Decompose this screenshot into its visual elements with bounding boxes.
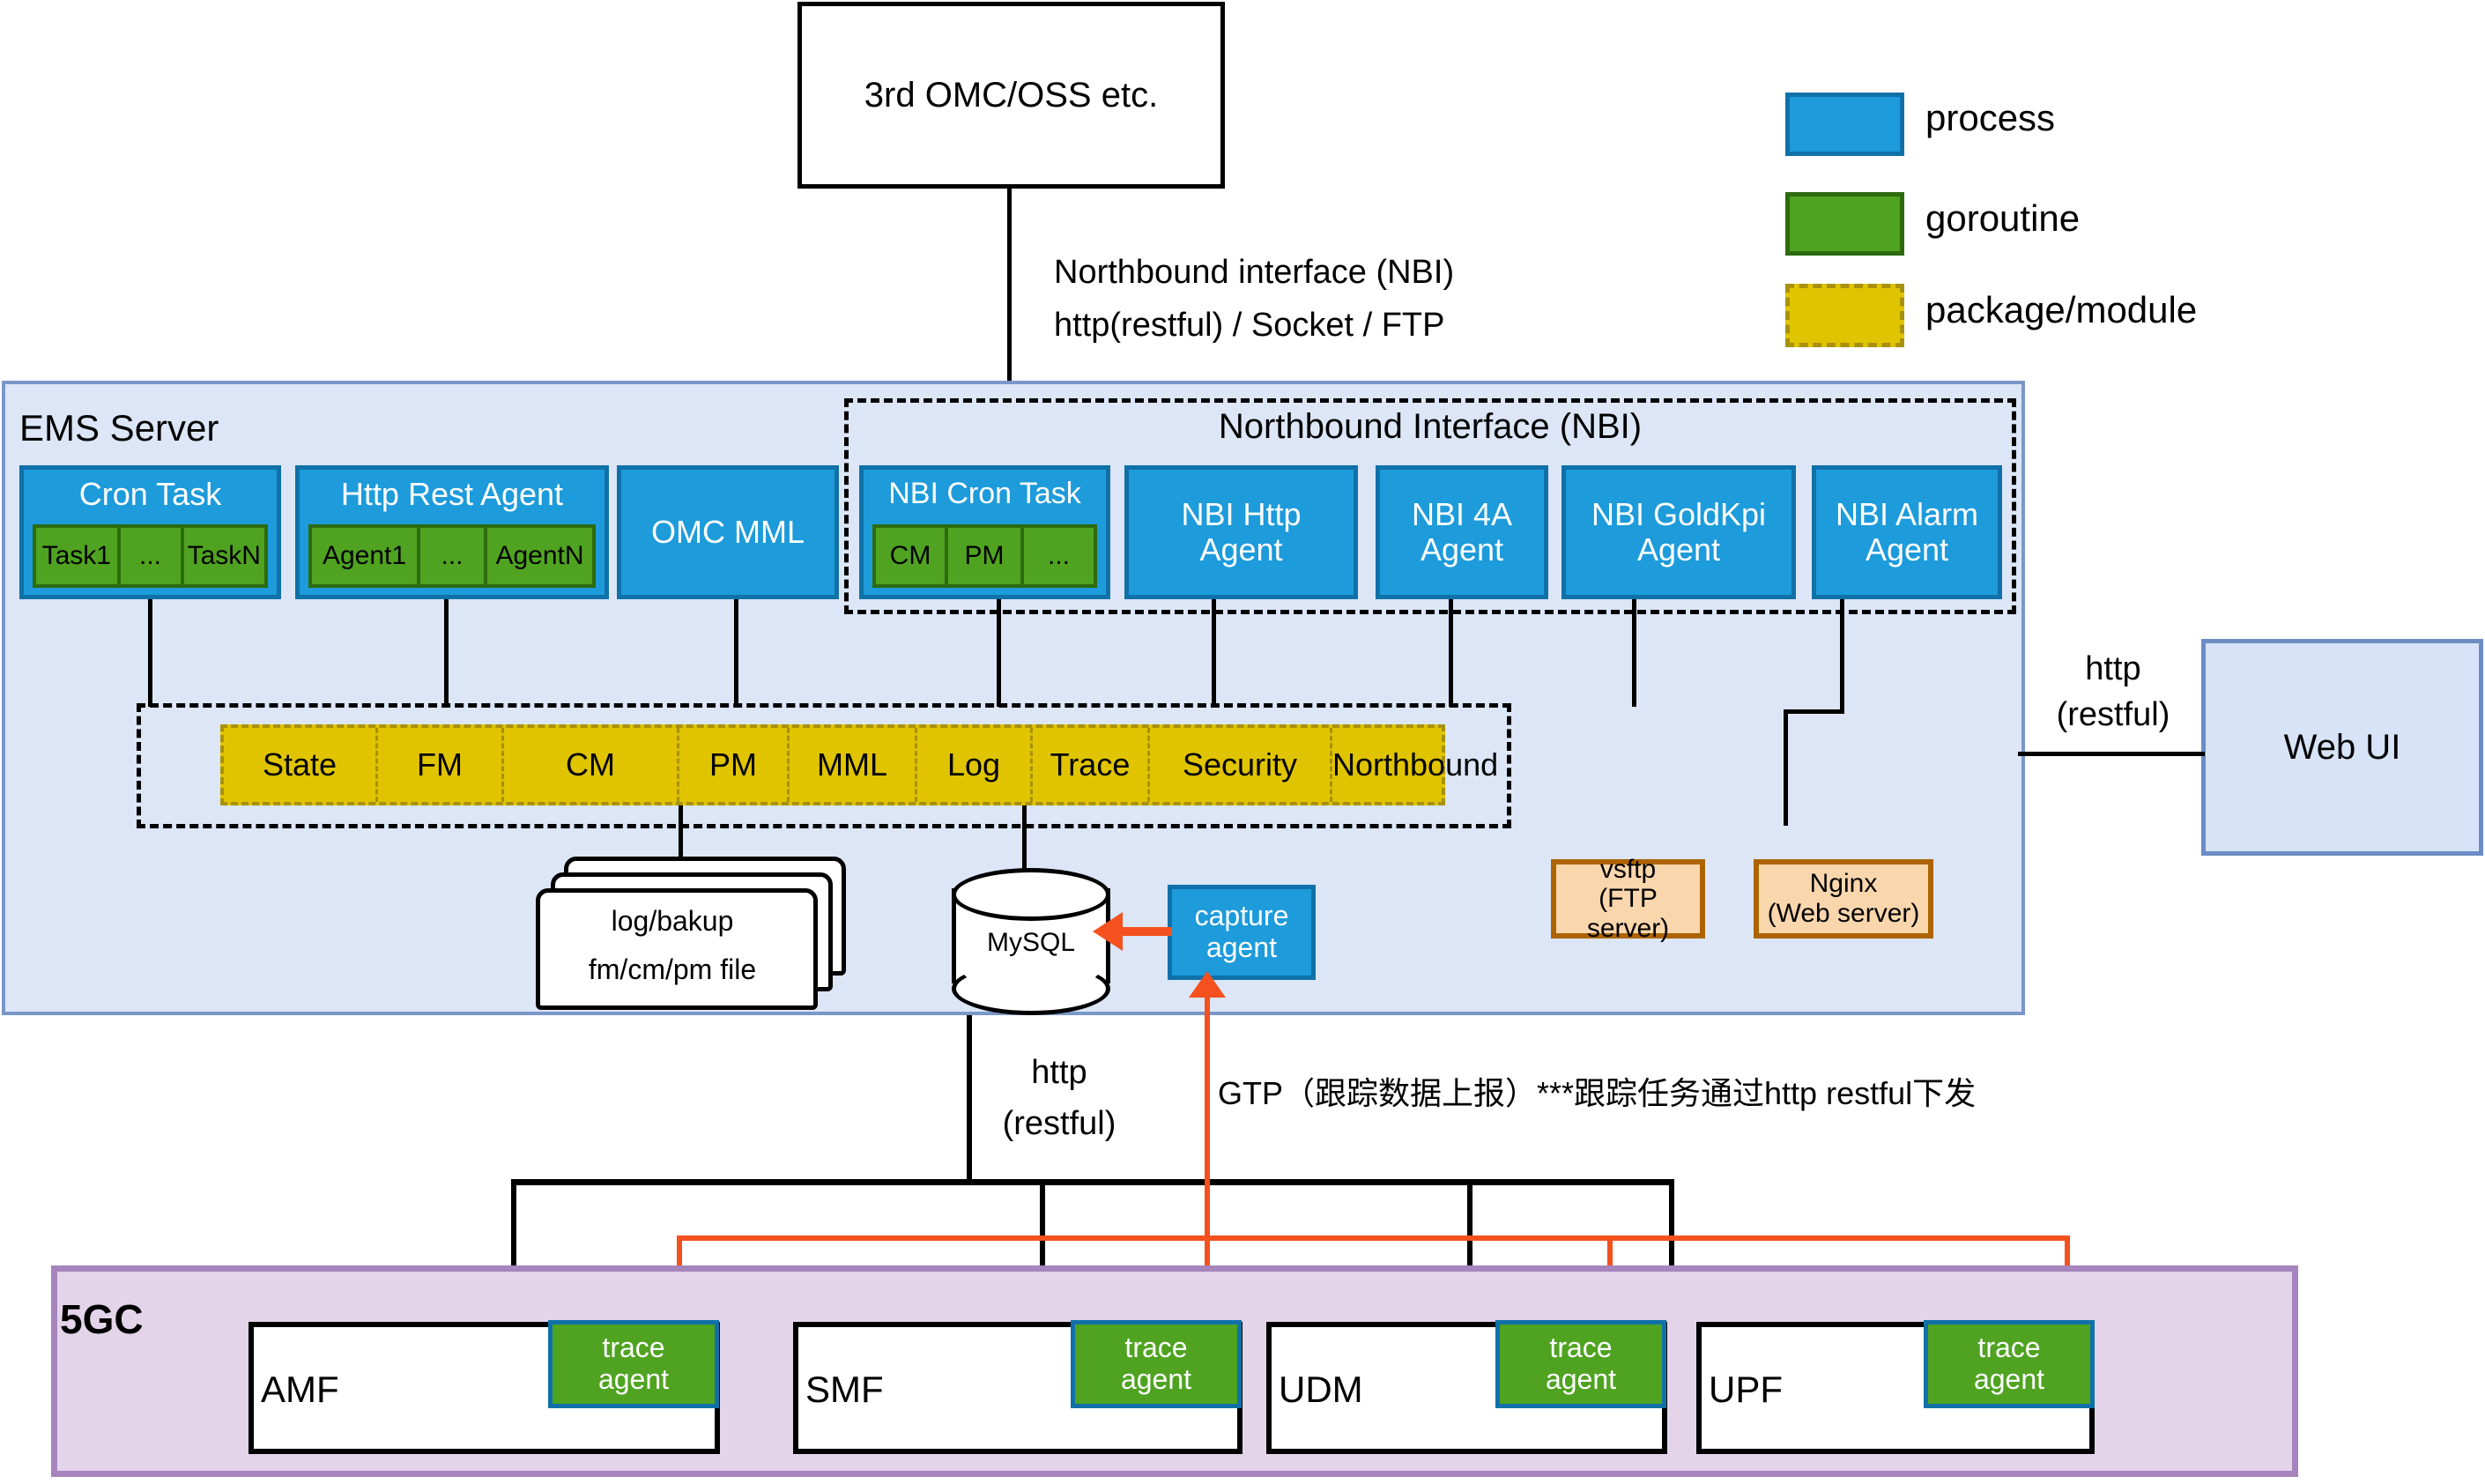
goroutine-ellipsis: ... <box>121 528 184 584</box>
module-cm[interactable]: CM <box>504 728 679 802</box>
server-vsftp-line2: (FTP server) <box>1556 884 1700 943</box>
south-http-label-line2: (restful) <box>980 1105 1139 1143</box>
web-ui-link-label-line2: (restful) <box>2027 696 2199 734</box>
legend-swatch-process <box>1785 93 1904 156</box>
nf-label-udm: UDM <box>1279 1369 1363 1411</box>
connector-http-rest-agent-to-modules <box>444 599 449 707</box>
server-vsftp: vsftp (FTP server) <box>1551 859 1705 939</box>
module-northbound[interactable]: Northbound <box>1332 728 1498 802</box>
gtp-note-label: GTP（跟踪数据上报）***跟踪任务通过http restful下发 <box>1218 1068 1976 1114</box>
arrow-gtp-trunk-head <box>1189 971 1226 998</box>
server-nginx-line1: Nginx <box>1810 869 1878 899</box>
connector-nbi-goldkpi-agent-to-modules <box>1632 599 1636 707</box>
connector-ems-to-5gc-trunk <box>967 1015 972 1183</box>
goroutine-group-cron-task: Task1 ... TaskN <box>33 524 268 588</box>
trace-agent-upf[interactable]: trace agent <box>1924 1320 2095 1408</box>
process-nbi-alarm-agent-label: NBI Alarm Agent <box>1836 497 1978 568</box>
capture-agent-label-line1: capture <box>1195 901 1289 932</box>
goroutine-group-http-rest-agent: Agent1 ... AgentN <box>308 524 596 588</box>
process-nbi-http-agent-label: NBI Http Agent <box>1181 497 1301 568</box>
trace-agent-amf[interactable]: trace agent <box>548 1320 719 1408</box>
server-vsftp-line1: vsftp <box>1600 855 1656 885</box>
module-trace[interactable]: Trace <box>1033 728 1150 802</box>
legend-label-goroutine: goroutine <box>1925 197 2080 240</box>
process-http-rest-agent[interactable]: Http Rest Agent Agent1 ... AgentN <box>295 465 609 599</box>
process-nbi-http-agent[interactable]: NBI Http Agent <box>1124 465 1358 599</box>
capture-agent-label-line2: agent <box>1206 932 1277 964</box>
server-nginx: Nginx (Web server) <box>1754 859 1933 939</box>
process-nbi-4a-agent[interactable]: NBI 4A Agent <box>1376 465 1548 599</box>
module-state[interactable]: State <box>224 728 378 802</box>
module-pm[interactable]: PM <box>679 728 790 802</box>
web-ui-label: Web UI <box>2284 728 2401 768</box>
trace-agent-udm-line2: agent <box>1546 1364 1616 1396</box>
trace-agent-smf-line2: agent <box>1121 1364 1191 1396</box>
module-fm[interactable]: FM <box>378 728 504 802</box>
connector-oss-to-nbi <box>1007 189 1012 402</box>
module-log[interactable]: Log <box>917 728 1033 802</box>
legend-label-process: process <box>1925 97 2055 139</box>
bus-trace-agents-horizontal <box>677 1235 2070 1241</box>
connector-nbi-alarm-agent-seg-v2 <box>1784 709 1788 826</box>
connector-cron-task-to-modules <box>148 599 152 707</box>
nbi-group-title: Northbound Interface (NBI) <box>844 407 2016 447</box>
legend-swatch-package-module <box>1785 284 1904 347</box>
trace-agent-smf[interactable]: trace agent <box>1071 1320 1242 1408</box>
process-omc-mml[interactable]: OMC MML <box>617 465 839 599</box>
nf-label-amf: AMF <box>261 1369 339 1411</box>
process-capture-agent[interactable]: capture agent <box>1168 885 1316 980</box>
process-nbi-alarm-agent[interactable]: NBI Alarm Agent <box>1812 465 2002 599</box>
connector-nbi-alarm-agent-seg-h <box>1784 709 1844 714</box>
arrow-capture-agent-to-mysql-shaft <box>1121 927 1172 936</box>
process-nbi-cron-task-label: NBI Cron Task <box>864 477 1106 510</box>
connector-ems-to-web-ui <box>2018 752 2205 756</box>
process-omc-mml-label: OMC MML <box>651 515 805 550</box>
module-security[interactable]: Security <box>1150 728 1332 802</box>
trace-agent-amf-line1: trace <box>602 1332 664 1364</box>
mysql-cylinder-top <box>952 868 1110 921</box>
architecture-diagram: 3rd OMC/OSS etc. Northbound interface (N… <box>0 0 2485 1484</box>
connector-nbi-alarm-agent-seg-v1 <box>1840 599 1844 714</box>
server-nginx-line2: (Web server) <box>1768 899 1920 929</box>
bus-5gc-horizontal <box>511 1179 1674 1185</box>
goroutine-agent1[interactable]: Agent1 <box>312 528 420 584</box>
gc-title: 5GC <box>60 1295 144 1343</box>
trace-agent-smf-line1: trace <box>1124 1332 1187 1364</box>
trace-agent-upf-line1: trace <box>1977 1332 2040 1364</box>
goroutine-group-nbi-cron-task: CM PM ... <box>872 524 1097 588</box>
module-bar: State FM CM PM MML Log Trace Security No… <box>220 724 1445 805</box>
process-nbi-goldkpi-agent[interactable]: NBI GoldKpi Agent <box>1561 465 1796 599</box>
arrow-capture-agent-to-mysql-head <box>1093 912 1123 951</box>
nf-label-upf: UPF <box>1709 1369 1783 1411</box>
process-http-rest-agent-label: Http Rest Agent <box>300 477 605 512</box>
connector-omc-mml-to-modules <box>734 599 738 707</box>
process-cron-task-label: Cron Task <box>24 477 277 512</box>
trace-agent-udm[interactable]: trace agent <box>1495 1320 1666 1408</box>
nbi-link-label-line2: http(restful) / Socket / FTP <box>1054 307 1444 345</box>
goroutine-task1[interactable]: Task1 <box>36 528 121 584</box>
file-store-label-line1: log/bakup <box>536 906 809 938</box>
process-nbi-goldkpi-agent-label: NBI GoldKpi Agent <box>1591 497 1766 568</box>
web-ui-box[interactable]: Web UI <box>2201 639 2483 856</box>
goroutine-pm[interactable]: PM <box>948 528 1024 584</box>
process-cron-task[interactable]: Cron Task Task1 ... TaskN <box>19 465 281 599</box>
file-store-label-line2: fm/cm/pm file <box>536 954 809 986</box>
goroutine-cm[interactable]: CM <box>876 528 948 584</box>
web-ui-link-label-line1: http <box>2027 650 2199 688</box>
connector-nbi-4a-agent-to-modules <box>1449 599 1453 707</box>
nf-label-smf: SMF <box>805 1369 884 1411</box>
connector-nbi-cron-task-to-modules <box>997 599 1001 707</box>
external-omc-oss-box: 3rd OMC/OSS etc. <box>797 2 1225 189</box>
arrow-gtp-trunk <box>1205 991 1210 1238</box>
mysql-cylinder-bottom <box>952 962 1110 1015</box>
nbi-link-label-line1: Northbound interface (NBI) <box>1054 254 1454 292</box>
external-omc-oss-label: 3rd OMC/OSS etc. <box>864 76 1158 115</box>
process-nbi-4a-agent-label: NBI 4A Agent <box>1412 497 1512 568</box>
legend-swatch-goroutine <box>1785 192 1904 256</box>
mysql-label: MySQL <box>952 928 1110 958</box>
south-http-label-line1: http <box>980 1054 1139 1092</box>
goroutine-ellipsis: ... <box>420 528 487 584</box>
goroutine-agentn[interactable]: AgentN <box>487 528 592 584</box>
trace-agent-upf-line2: agent <box>1974 1364 2044 1396</box>
goroutine-ellipsis: ... <box>1024 528 1094 584</box>
trace-agent-amf-line2: agent <box>598 1364 669 1396</box>
connector-nbi-http-agent-to-modules <box>1212 599 1216 707</box>
connector-modules-to-mysql <box>1022 805 1027 876</box>
process-nbi-cron-task[interactable]: NBI Cron Task CM PM ... <box>859 465 1110 599</box>
goroutine-taskn[interactable]: TaskN <box>184 528 265 584</box>
trace-agent-udm-line1: trace <box>1549 1332 1612 1364</box>
ems-server-title: EMS Server <box>19 407 219 449</box>
module-mml[interactable]: MML <box>790 728 917 802</box>
legend-label-package-module: package/module <box>1925 289 2197 331</box>
